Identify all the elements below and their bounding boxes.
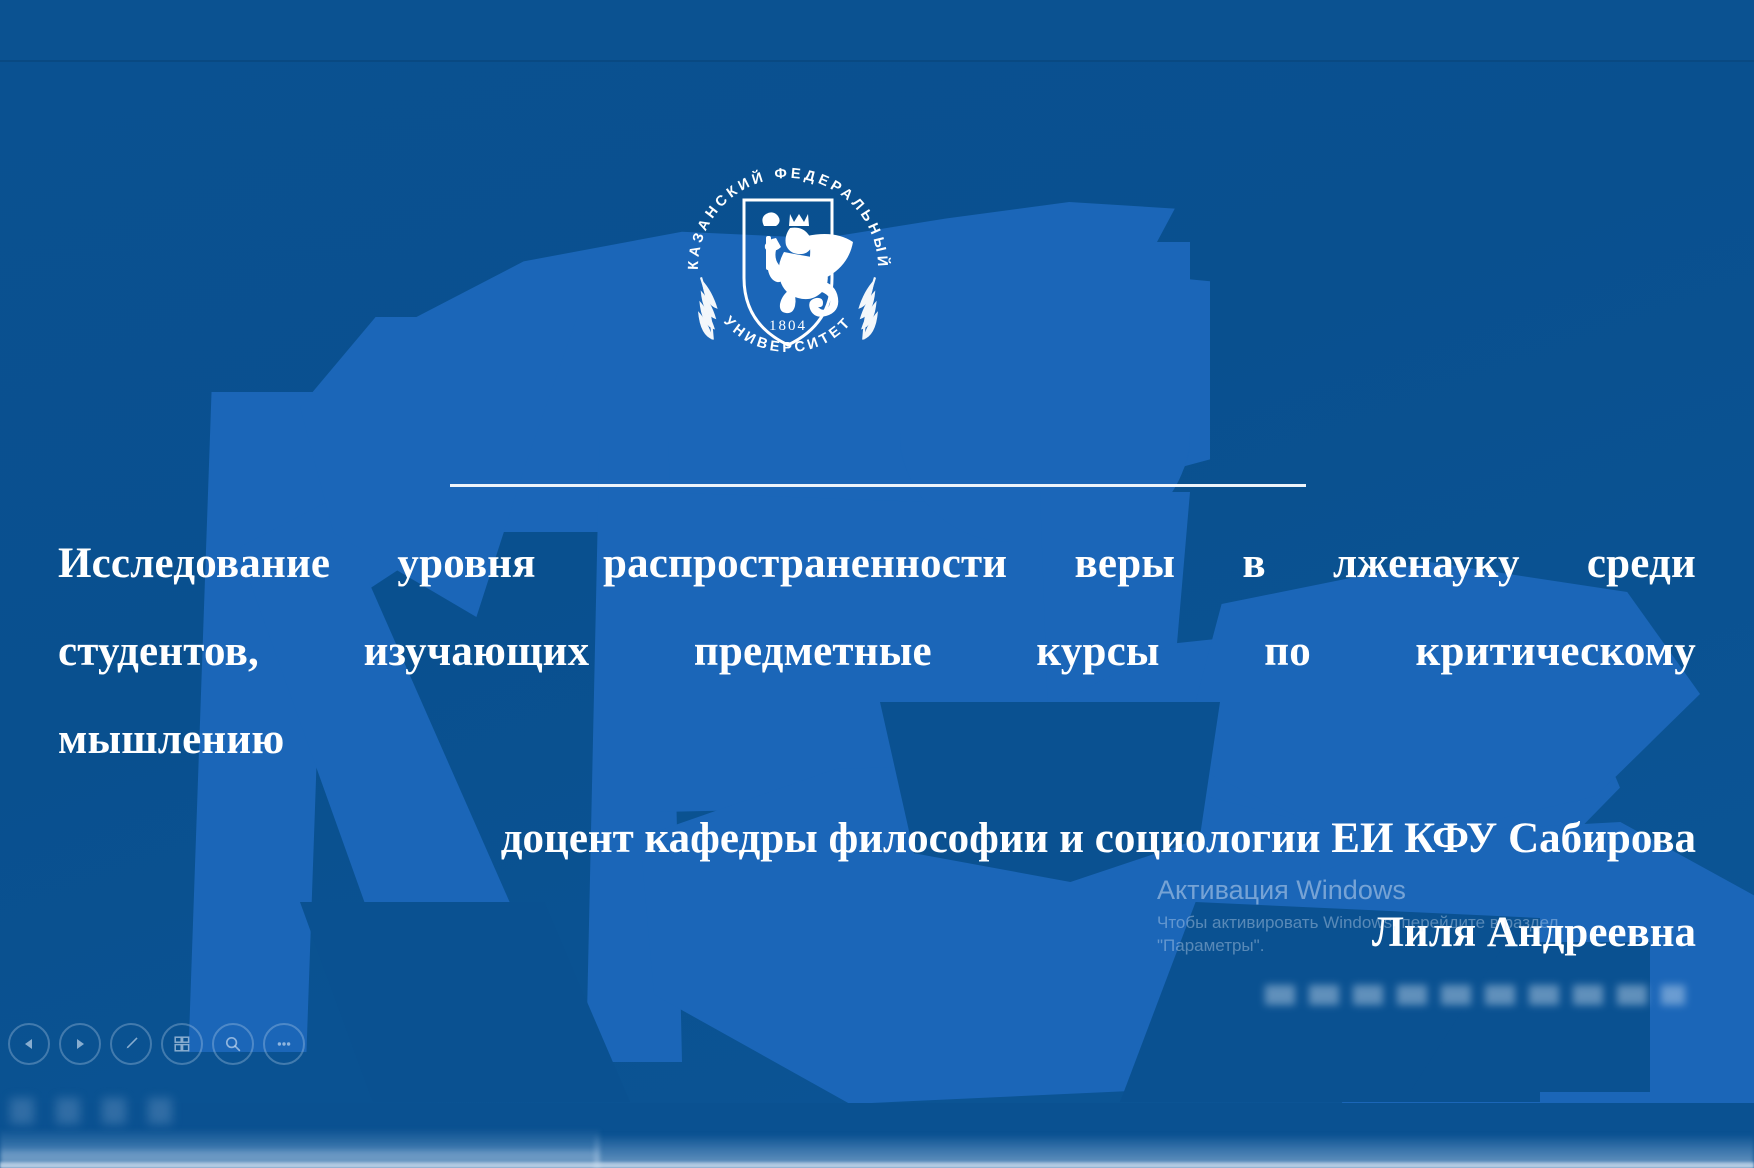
- title-word: курсы: [1036, 608, 1159, 696]
- blurred-overlay-strip: [1265, 985, 1685, 1005]
- triangle-left-icon: [21, 1036, 37, 1052]
- title-word: в: [1242, 520, 1265, 608]
- author-line-1: доцент кафедры философии и социологии ЕИ…: [58, 792, 1696, 886]
- zoom-slide-button[interactable]: [212, 1023, 254, 1065]
- more-options-button[interactable]: [263, 1023, 305, 1065]
- title-line-3: мышлению: [58, 696, 1696, 784]
- magnifier-icon: [223, 1034, 243, 1054]
- title-divider: [450, 484, 1306, 487]
- title-word: студентов,: [58, 608, 259, 696]
- title-word: по: [1264, 608, 1311, 696]
- presentation-slide[interactable]: КАЗАНСКИЙ ФЕДЕРАЛЬНЫЙ УНИВЕРСИТЕТ: [0, 62, 1754, 1103]
- title-word: веры: [1075, 520, 1176, 608]
- ellipsis-icon: [274, 1034, 294, 1054]
- title-word: распространенности: [603, 520, 1007, 608]
- kfu-university-crest-icon: КАЗАНСКИЙ ФЕДЕРАЛЬНЫЙ УНИВЕРСИТЕТ: [672, 152, 904, 384]
- title-word: уровня: [397, 520, 535, 608]
- pen-icon: [121, 1034, 141, 1054]
- next-slide-button[interactable]: [59, 1023, 101, 1065]
- slideshow-stage: КАЗАНСКИЙ ФЕДЕРАЛЬНЫЙ УНИВЕРСИТЕТ: [0, 0, 1754, 1168]
- slide-title: Исследование уровня распространенности в…: [58, 520, 1696, 784]
- previous-slide-button[interactable]: [8, 1023, 50, 1065]
- author-line-2: Лиля Андреевна: [58, 886, 1696, 980]
- slide-author: доцент кафедры философии и социологии ЕИ…: [58, 792, 1696, 980]
- all-slides-button[interactable]: [161, 1023, 203, 1065]
- title-word: критическому: [1416, 608, 1696, 696]
- pen-tools-button[interactable]: [110, 1023, 152, 1065]
- slideshow-control-bar[interactable]: [8, 1023, 305, 1065]
- bottom-screen-edge: [0, 1162, 1754, 1168]
- slide-grid-icon: [172, 1034, 192, 1054]
- blurred-taskbar-icons: [10, 1098, 190, 1124]
- title-word: Исследование: [58, 520, 330, 608]
- triangle-right-icon: [72, 1036, 88, 1052]
- title-word: среди: [1587, 520, 1696, 608]
- svg-text:1804: 1804: [769, 318, 807, 334]
- title-word: изучающих: [364, 608, 590, 696]
- title-word: лженауку: [1333, 520, 1520, 608]
- top-letterbox: [0, 0, 1754, 63]
- title-word: предметные: [694, 608, 932, 696]
- title-line-1: Исследование уровня распространенности в…: [58, 520, 1696, 608]
- title-line-2: студентов, изучающих предметные курсы по…: [58, 608, 1696, 696]
